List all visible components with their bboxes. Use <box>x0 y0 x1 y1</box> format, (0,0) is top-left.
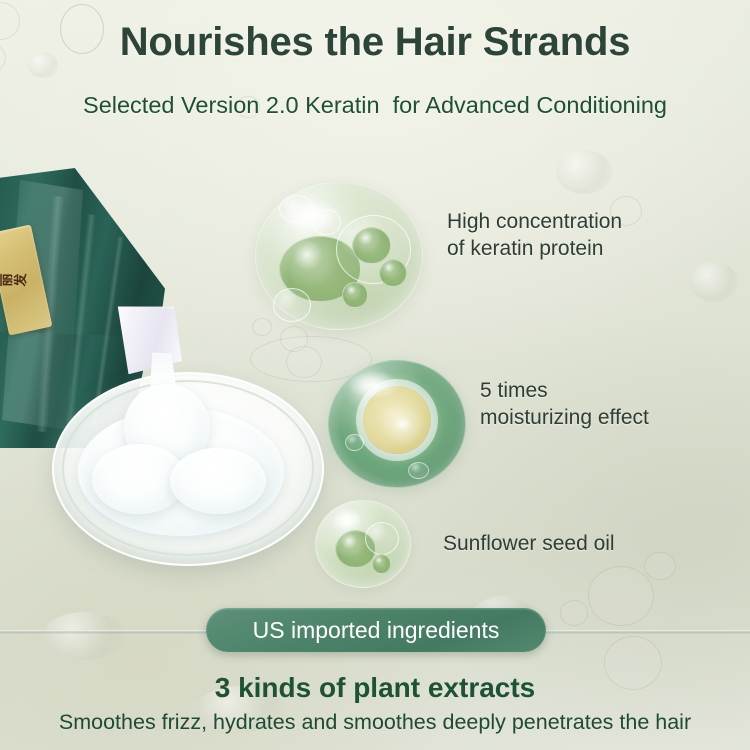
bubble-droplet <box>342 282 367 307</box>
cream-lobe <box>170 448 266 514</box>
background-bubble-ring <box>644 552 676 580</box>
background-bubble-ring <box>588 566 654 626</box>
product-label-text: 美 染 丽 发 <box>0 258 29 302</box>
background-blot <box>42 612 126 660</box>
bubble-droplet <box>379 259 408 287</box>
bubble-highlight <box>333 510 363 529</box>
callout-keratin: High concentration of keratin protein <box>447 208 622 262</box>
callout-moisture: 5 times moisturizing effect <box>480 377 649 431</box>
bubble-highlight <box>283 198 339 233</box>
product-marketing-poster: Nourishes the Hair Strands Selected Vers… <box>0 0 750 750</box>
ingredient-bubble-keratin <box>255 182 423 330</box>
footer-subtext: Smoothes frizz, hydrates and smoothes de… <box>0 710 750 735</box>
background-bubble-ring <box>252 318 272 336</box>
footer-headline: 3 kinds of plant extracts <box>0 672 750 704</box>
page-subtitle: Selected Version 2.0 Keratin for Advance… <box>0 92 750 119</box>
ingredient-bubble-moisture <box>328 360 466 488</box>
bubble-highlight <box>348 371 400 399</box>
background-blot <box>556 150 612 194</box>
bubble-inner-ring <box>345 434 363 451</box>
status-badge: US imported ingredients <box>206 608 546 652</box>
bubble-inner-ring <box>365 522 399 555</box>
bubble-droplet <box>352 227 391 264</box>
bubble-inner-ring <box>408 462 429 479</box>
callout-sunflower: Sunflower seed oil <box>443 530 615 557</box>
bubble-inner-ring <box>273 288 312 322</box>
background-blot <box>690 262 738 302</box>
bubble-droplet <box>372 554 391 573</box>
page-title: Nourishes the Hair Strands <box>0 20 750 65</box>
background-bubble-ring <box>560 600 588 626</box>
ingredient-bubble-sunflower <box>315 500 411 588</box>
